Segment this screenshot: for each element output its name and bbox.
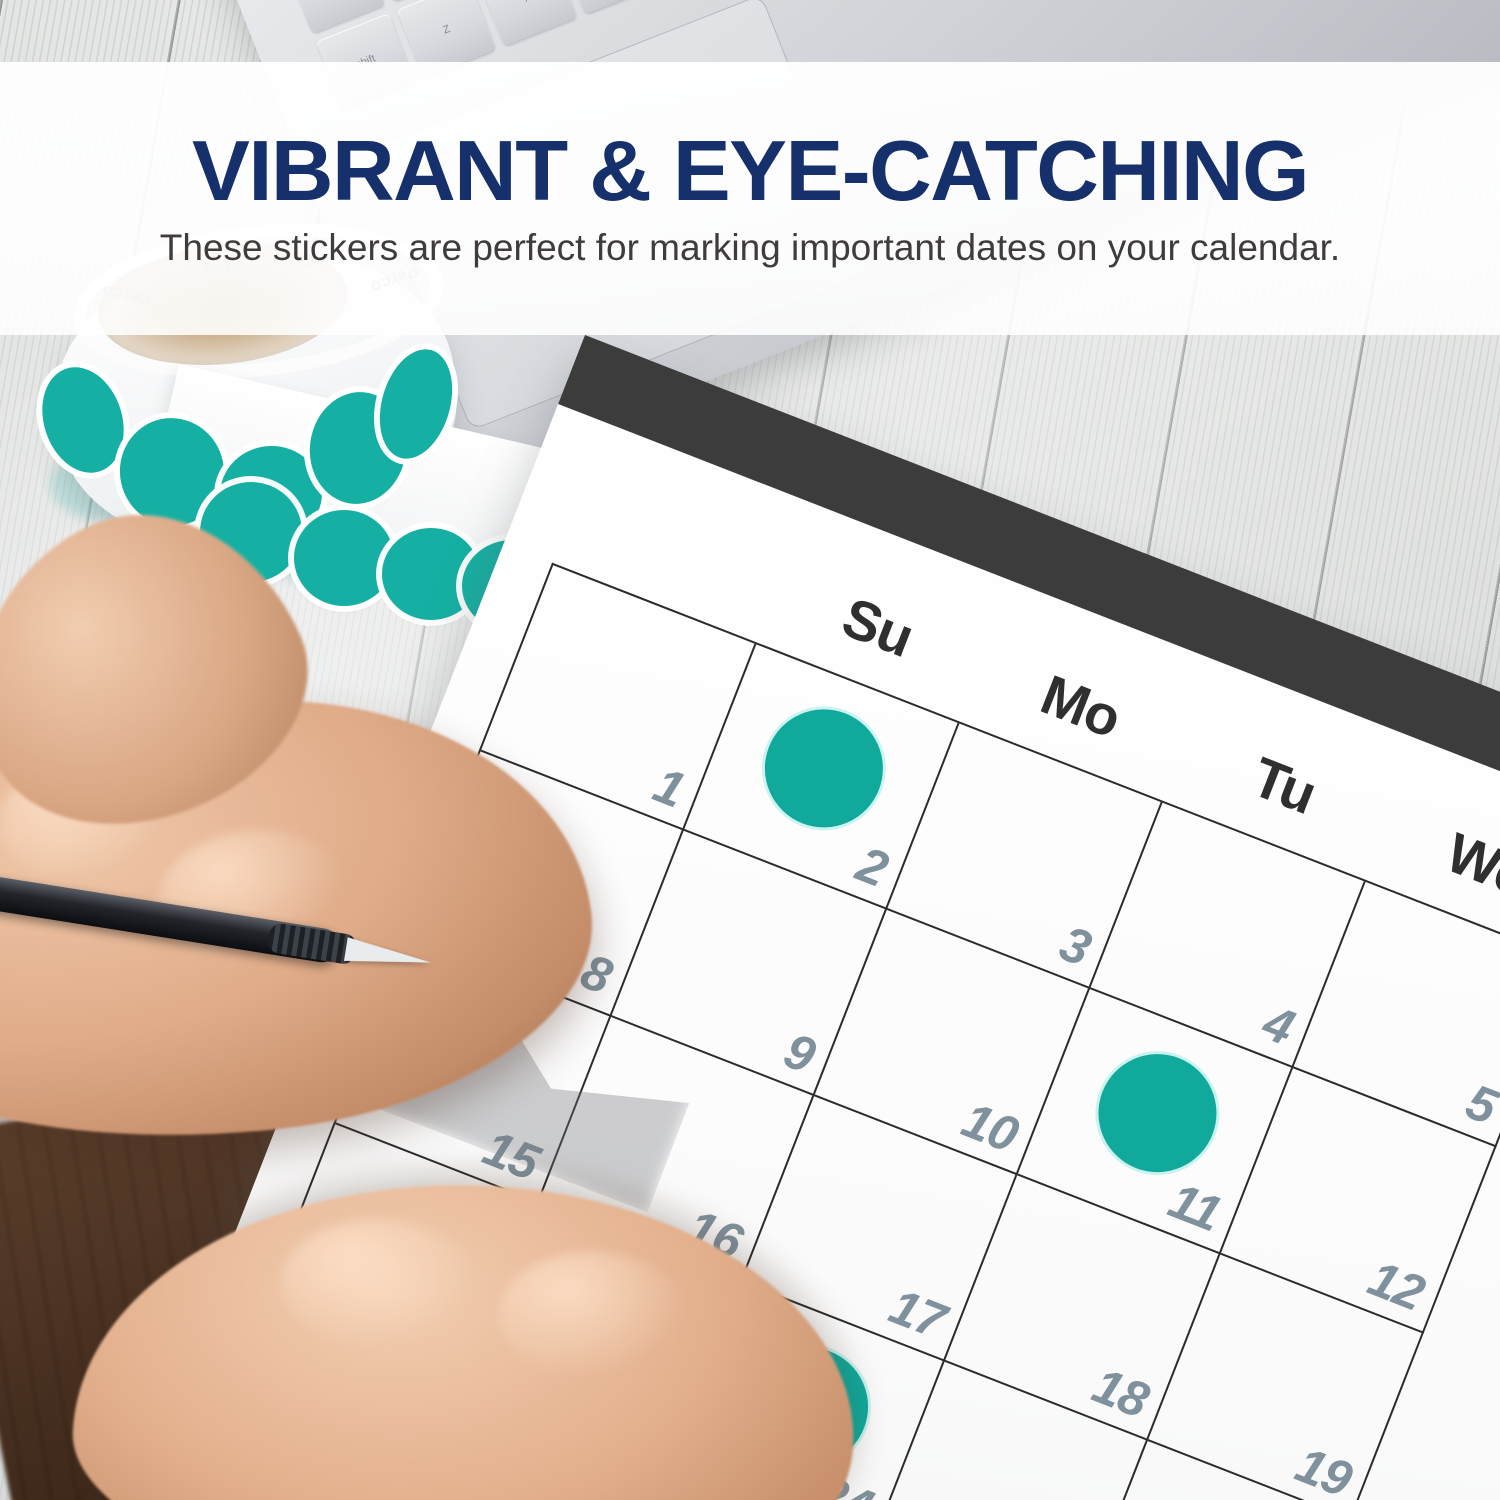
day-number: 4 xyxy=(1255,993,1301,1057)
day-number: 19 xyxy=(1288,1435,1359,1500)
day-number: 1 xyxy=(646,756,692,820)
sticker-marker xyxy=(1081,1037,1234,1190)
day-number: 5 xyxy=(1458,1072,1500,1136)
knuckle xyxy=(496,1247,693,1387)
day-number: 2 xyxy=(849,835,895,899)
sticker-marker xyxy=(747,692,900,845)
day-number: 18 xyxy=(1085,1356,1156,1430)
day-number: 11 xyxy=(1161,1171,1229,1243)
product-marketing-image: escF1F2F3F4F5F6F7F8F9F10F11F12 ~12345678… xyxy=(0,0,1500,1500)
day-number: 17 xyxy=(882,1277,953,1351)
day-number: 9 xyxy=(776,1021,822,1085)
day-number: 12 xyxy=(1361,1249,1432,1323)
sticker-dot xyxy=(294,510,394,606)
day-number: 10 xyxy=(955,1091,1026,1165)
promo-banner: VIBRANT & EYE-CATCHING These stickers ar… xyxy=(0,62,1500,335)
subheadline: These stickers are perfect for marking i… xyxy=(160,228,1340,269)
headline: VIBRANT & EYE-CATCHING xyxy=(192,129,1308,214)
knuckle xyxy=(278,1215,485,1355)
day-number: 3 xyxy=(1052,914,1098,978)
